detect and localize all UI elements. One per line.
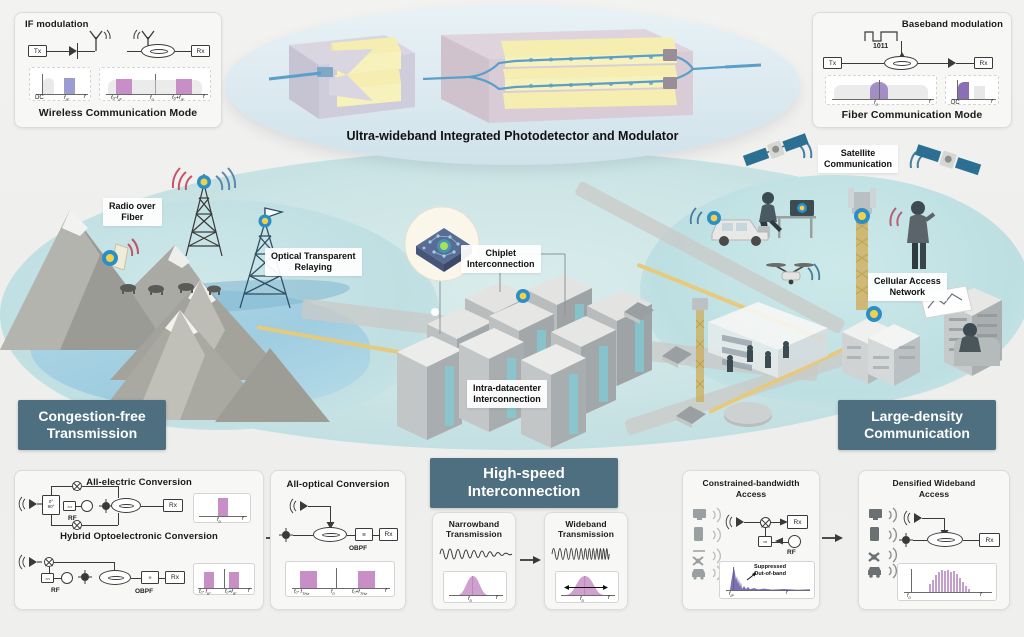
spectrum-wideband: f0 f <box>555 571 619 603</box>
wideband-transmission-title: Wideband Transmission <box>545 519 627 539</box>
obpf-block-hy: ≋ <box>141 571 159 584</box>
spectrum-tick-f0-nb: f0 <box>468 596 472 603</box>
if-modulation-header: IF modulation <box>25 19 89 30</box>
spectrum-tick-f0-dw: f0 <box>907 593 911 600</box>
spectrum-axis-f: f <box>84 94 86 100</box>
spectrum-axis-f-optical: f <box>203 94 205 100</box>
lounge-user <box>946 318 1008 372</box>
spectrum-axis-f-hy: f <box>248 588 250 594</box>
arrow-to-densified <box>822 530 844 546</box>
spectrum-tick-upper-ao: f₀+fTHz <box>352 589 367 596</box>
office-building-center-right <box>838 312 924 388</box>
rf-oscillator-cb <box>788 535 801 548</box>
livestock <box>118 278 228 296</box>
mach-zehnder-modulator-icon-fiber <box>884 56 918 70</box>
baseband-modulation-header: Baseband modulation <box>902 19 1003 30</box>
spectrum-tick-f0-wb: f0 <box>580 596 584 603</box>
photodetector-die <box>269 35 415 119</box>
spectrum-all-optical: f₀- fTHz f0 f₀+fTHz f <box>285 561 395 597</box>
arrow-to-wideband <box>520 552 542 568</box>
spectrum-tick-fif-cb: fIF <box>729 591 734 598</box>
photodiode-icon <box>69 46 77 56</box>
mixer-icon-ae-top <box>72 481 82 491</box>
spectrum-axis-f-cb: f <box>786 590 788 596</box>
hybrid-coupler-90deg: 0°90° <box>42 495 60 515</box>
spectrum-baseband-electrical: DC f <box>945 75 999 105</box>
laser-source-icon-dw <box>899 533 913 547</box>
receive-antenna-icon-ae <box>21 495 43 513</box>
spectrum-axis-f-electrical: f <box>991 99 993 105</box>
panel-narrowband-transmission: Narrowband Transmission f0 f <box>432 512 516 610</box>
spectrum-all-electric: f0 f <box>193 493 251 523</box>
mzm-icon-ao <box>313 527 347 542</box>
rf-label-ae: RF <box>68 515 77 522</box>
rx-block-hy: Rx <box>165 571 185 584</box>
callout-cellular-access-network: Cellular Access Network <box>868 273 947 301</box>
panel-wireless-communication-mode: IF modulation Tx Rx <box>14 12 222 128</box>
panel-conversion-methods: All-electric Conversion 0°90° ×n RF <box>14 470 264 610</box>
rx-block-ae: Rx <box>163 499 183 512</box>
panel-densified-wideband-access: Densified Wideband Access <box>858 470 1010 610</box>
banner-large-density-communication: Large-density Communication <box>838 400 996 450</box>
transmit-antenna-icon <box>87 29 117 53</box>
spectrum-hybrid: f₀- fIF f₀+fIF f <box>193 563 255 595</box>
spectrum-tick-dc-fiber: DC <box>951 100 960 106</box>
panel-all-optical-conversion: All-optical Conversion ≋ Rx OBPF <box>270 470 406 610</box>
callout-intra-datacenter-interconnection: Intra-datacenter Interconnection <box>467 380 547 408</box>
mzm-icon-hy <box>99 570 131 585</box>
laser-source-icon-ao <box>279 528 293 542</box>
mach-zehnder-modulator-icon <box>141 44 175 58</box>
callout-optical-transparent-relaying: Optical Transparent Relaying <box>265 248 362 276</box>
rx-block-ao: Rx <box>379 528 398 541</box>
spectrum-axis-f-ae: f <box>242 516 244 522</box>
spectrum-tick-lower-ao: f₀- fTHz <box>294 589 309 596</box>
photodiode-icon-fiber <box>948 58 956 68</box>
spectrum-tick-f0-ae: f0 <box>217 517 221 524</box>
radio-tower-left <box>178 172 230 260</box>
spectrum-if-optical: f₀-fIF f0 f₀+fIF f <box>99 67 211 101</box>
narrowband-transmission-title: Narrowband Transmission <box>433 519 515 539</box>
spectrum-axis-f-wb: f <box>608 595 610 601</box>
chip-title: Ultra-wideband Integrated Photodetector … <box>225 129 800 143</box>
phase-shifter-ae: ×n <box>63 501 76 511</box>
spectrum-axis-f-fiber: f <box>929 99 931 105</box>
tx-block-fiber: Tx <box>823 57 842 69</box>
rx-block-fiber: Rx <box>974 57 993 69</box>
warehouse <box>720 396 776 430</box>
mzm-icon-ae <box>111 498 141 513</box>
spectrum-tick-upper-hy: f₀+fIF <box>225 589 236 596</box>
all-optical-conversion-title: All-optical Conversion <box>271 479 405 490</box>
figure-canvas: Ultra-wideband Integrated Photodetector … <box>0 0 1024 637</box>
phase-shifter-hy: ×n <box>41 573 54 583</box>
bandwidth-arrow-icon <box>564 583 608 592</box>
spectrum-baseband-optical: f0 f <box>825 75 937 105</box>
spectrum-if-baseband: DC fIF f <box>29 67 91 101</box>
rx-block-cb: Rx <box>787 515 808 529</box>
densified-wideband-access-title: Densified Wideband Access <box>859 478 1009 499</box>
comb-spectrum-shape <box>928 569 972 592</box>
satellite-dish-left <box>98 240 132 274</box>
house-1 <box>620 296 660 324</box>
constrained-bandwidth-access-title: Constrained-bandwidth Access <box>683 478 819 499</box>
suppressed-out-of-band-annotation: Suppressed Out-of-band <box>754 564 786 578</box>
photonic-chip <box>273 23 763 128</box>
receive-antenna-icon-hy <box>21 553 43 571</box>
callout-radio-over-fiber: Radio over Fiber <box>103 198 162 226</box>
rf-oscillator-ae <box>81 500 93 512</box>
callout-chiplet-interconnection: Chiplet Interconnection <box>461 245 541 273</box>
mixer-icon-cb <box>760 517 771 528</box>
panel-constrained-bandwidth-access: Constrained-bandwidth Access <box>682 470 820 610</box>
spectrum-densified: f0 f <box>897 563 997 601</box>
spectrum-tick-if: fIF <box>64 95 69 102</box>
rx-block-dw: Rx <box>979 533 1000 547</box>
spectrum-narrowband: f0 f <box>443 571 507 603</box>
spectrum-axis-f-nb: f <box>496 595 498 601</box>
spectrum-tick-f0-ao: f0 <box>331 589 335 596</box>
panel-wideband-transmission: Wideband Transmission f0 f <box>544 512 628 610</box>
obpf-label-ao: OBPF <box>349 545 367 552</box>
office-interior <box>700 302 840 388</box>
rx-block-wireless: Rx <box>191 45 210 57</box>
narrow-gaussian-shape <box>458 576 488 595</box>
house-3 <box>672 400 712 428</box>
rf-oscillator-hy <box>61 572 73 584</box>
wireless-mode-footer: Wireless Communication Mode <box>15 107 221 119</box>
obpf-label-hy: OBPF <box>135 588 153 595</box>
spectrum-tick-upper-sideband: f₀+fIF <box>172 95 184 102</box>
panel-fiber-communication-mode: Baseband modulation 1011 Tx Rx f0 f <box>812 12 1012 128</box>
mixer-icon-hy <box>44 557 54 567</box>
banner-high-speed-interconnection: High-speed Interconnection <box>430 458 618 508</box>
banner-congestion-free-transmission: Congestion-free Transmission <box>18 400 166 450</box>
rf-label-hy: RF <box>51 587 60 594</box>
house-2 <box>658 340 698 368</box>
mobile-user <box>896 198 940 272</box>
rf-arrow-cb <box>775 537 784 545</box>
annotation-pointer-icon <box>747 572 757 580</box>
spectrum-tick-carrier-fiber: f0 <box>874 100 878 107</box>
callout-satellite-communication: Satellite Communication <box>818 145 898 173</box>
spectrum-tick-dc: DC <box>35 95 44 101</box>
spectrum-tick-carrier: f0 <box>150 95 154 102</box>
tx-block-wireless: Tx <box>28 45 47 57</box>
modulator-die <box>423 29 761 123</box>
drone <box>762 256 820 290</box>
connected-van <box>706 206 776 250</box>
laser-source-icon-hy <box>78 570 92 584</box>
wideband-waveform <box>551 541 623 567</box>
satellite-right <box>912 140 982 186</box>
datacenter-racks <box>405 268 665 443</box>
narrowband-waveform <box>439 541 511 567</box>
bit-pattern-label: 1011 <box>873 43 888 50</box>
rf-label-cb: RF <box>787 549 796 556</box>
chip-illustration-container: Ultra-wideband Integrated Photodetector … <box>225 5 800 150</box>
spectrum-tick-lower-hy: f₀- fIF <box>199 589 211 596</box>
spectrum-axis-f-dw: f <box>980 592 982 598</box>
obpf-block-ao: ≋ <box>355 528 373 541</box>
spectrum-tick-lower-sideband: f₀-fIF <box>111 95 122 102</box>
mzm-icon-dw <box>927 532 963 547</box>
fiber-mode-footer: Fiber Communication Mode <box>813 109 1011 121</box>
spectrum-axis-f-ao: f <box>385 588 387 594</box>
phase-shifter-cb: ×n <box>758 536 772 547</box>
spectrum-constrained: fIF f Suppressed Out-of-band <box>719 561 815 599</box>
hybrid-optoelectronic-conversion-title: Hybrid Optoelectronic Conversion <box>15 531 263 542</box>
